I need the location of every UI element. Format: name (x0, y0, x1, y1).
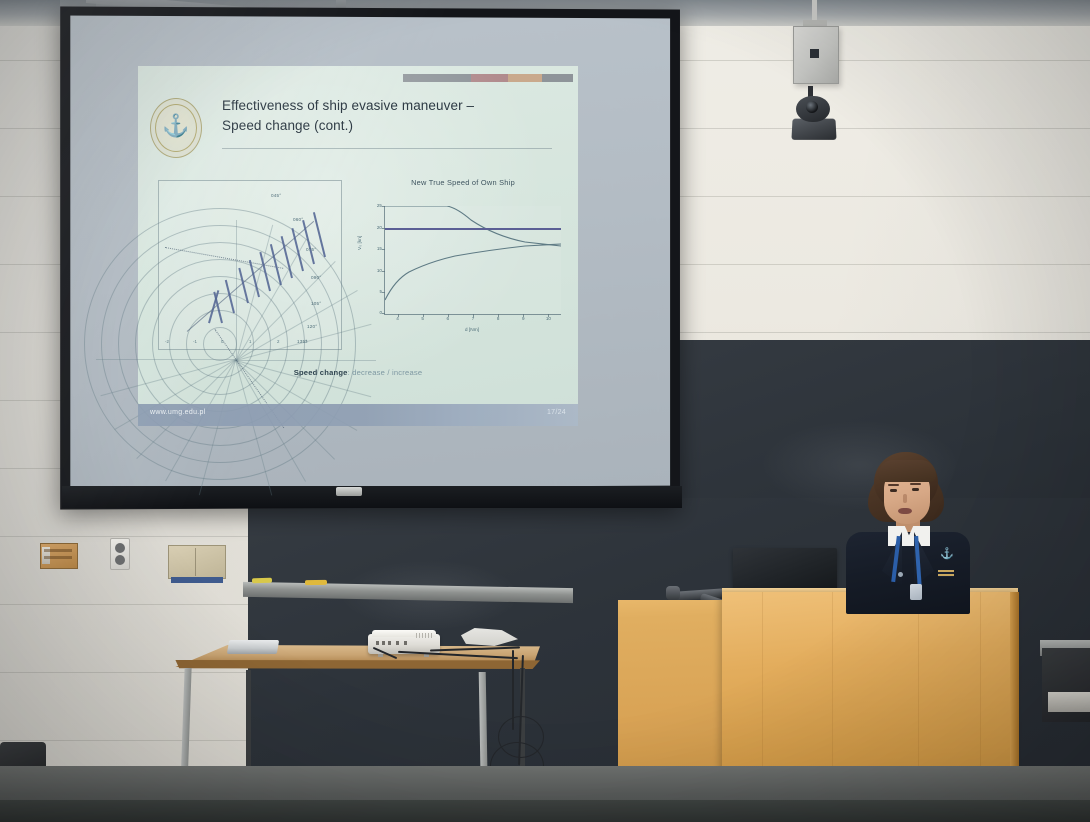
ptz-camera-icon (790, 86, 838, 144)
x-tick: 9 (522, 316, 525, 321)
x-tick: 4 (396, 316, 399, 321)
caption-rest: : decrease / increase (348, 368, 423, 377)
x-tick: 5 (421, 316, 424, 321)
light-switch-icon[interactable] (40, 543, 78, 569)
lecture-hall-photo: ⚓ Effectiveness of ship evasive maneuver… (0, 0, 1090, 822)
laptop-icon (227, 640, 279, 654)
x-tick: 10 (546, 316, 551, 321)
id-badge (910, 584, 922, 600)
marker-pen (252, 578, 272, 584)
x-tick: 8 (497, 316, 500, 321)
caption-emphasis: Speed change (294, 368, 348, 377)
power-outlet-icon (110, 538, 130, 570)
y-tick: 20 (370, 225, 382, 230)
slide-footer: www.umg.edu.pl 17/24 (138, 404, 578, 426)
rank-stripes (938, 570, 954, 577)
new-true-speed-chart: New True Speed of Own Ship 25 20 15 10 (352, 178, 574, 350)
y-tick: 10 (370, 268, 382, 273)
equipment-tray (1048, 692, 1090, 712)
y-tick: 25 (370, 203, 382, 208)
y-tick: 0 (370, 310, 382, 315)
polar-bearing-chart: 045° 060° 075° 090° 105° 120° 135° -2 -1… (158, 180, 342, 350)
slide-title: Effectiveness of ship evasive maneuver –… (222, 96, 552, 135)
chart-plot-area: 25 20 15 10 5 0 4 5 6 7 8 9 10 (384, 206, 561, 315)
y-tick: 15 (370, 246, 382, 251)
anchor-insignia-icon: ⚓ (940, 548, 952, 560)
presenter: ⚓ (838, 452, 978, 612)
footer-url: www.umg.edu.pl (150, 409, 206, 416)
footer-page-number: 17/24 (547, 409, 566, 416)
marker-pen (305, 580, 327, 585)
y-tick: 5 (370, 289, 382, 294)
junction-box-icon (793, 26, 839, 84)
slide-title-line-1: Effectiveness of ship evasive maneuver – (222, 96, 552, 116)
university-seal-icon: ⚓ (150, 98, 202, 158)
slide-title-line-2: Speed change (cont.) (222, 116, 552, 136)
lapel-pin (898, 572, 903, 577)
floor-front (0, 800, 1090, 822)
wall-box-icon (168, 545, 226, 579)
x-tick: 7 (472, 316, 475, 321)
chart-title: New True Speed of Own Ship (352, 178, 574, 187)
chart-curves (385, 206, 561, 314)
y-axis-label: V₀ [kn] (358, 236, 363, 250)
anchor-icon: ⚓ (162, 115, 189, 137)
x-tick: 6 (447, 316, 450, 321)
x-axis-label: d [Nm] (384, 328, 560, 333)
table-edge (168, 660, 540, 669)
slide-caption: Speed change: decrease / increase (138, 368, 578, 377)
slide-top-band (403, 74, 573, 82)
current-speed-reference-line (385, 228, 561, 230)
title-divider (222, 148, 552, 149)
